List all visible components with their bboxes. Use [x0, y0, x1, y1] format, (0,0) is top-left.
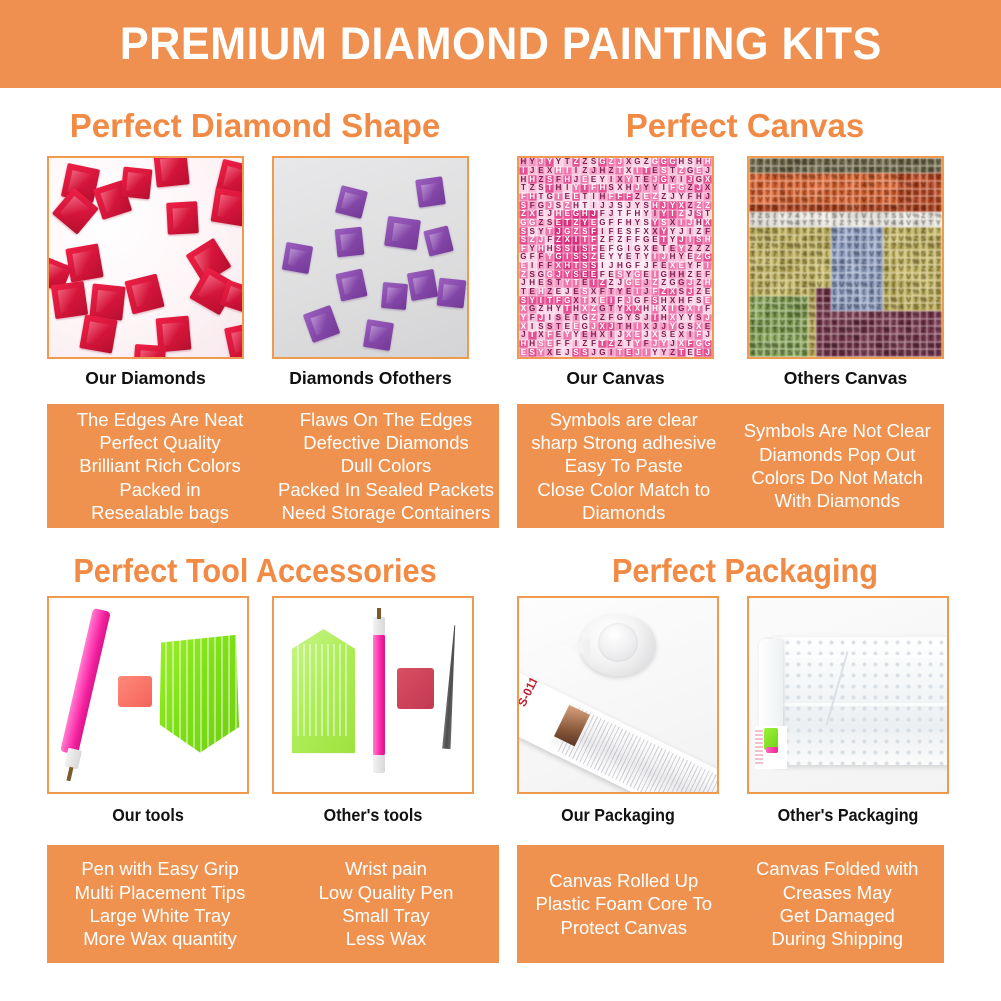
canvas-symbol-cell: % [890, 349, 897, 357]
canvas-symbol-cell: T [563, 219, 572, 228]
canvas-symbol-cell: G [545, 193, 554, 202]
canvas-symbol-cell: J [589, 348, 598, 357]
canvas-symbol-cell: J [703, 348, 712, 357]
canvas-symbol-cell: I [572, 167, 581, 176]
canvas-symbol-cell: J [589, 167, 598, 176]
canvas-symbol-cell: G [686, 167, 695, 176]
panel-line: Protect Canvas [561, 916, 687, 939]
canvas-symbol-cell: J [703, 167, 712, 176]
canvas-symbol-cell: E [642, 193, 651, 202]
panel-line: Brilliant Rich Colors [79, 454, 240, 477]
canvas-symbol-cell: H [528, 193, 537, 202]
panel-diamond-shape: The Edges Are Neat Perfect Quality Brill… [47, 404, 499, 528]
pink-pen [60, 608, 111, 756]
canvas-symbol-cell: X [668, 219, 677, 228]
panel-canvas: Symbols are clear sharp Strong adhesive … [517, 404, 944, 528]
canvas-symbol-cell: T [580, 193, 589, 202]
canvas-symbol-cell: S [801, 349, 808, 357]
canvas-symbol-cell: J [668, 193, 677, 202]
panel-line: Flaws On The Edges [300, 408, 472, 431]
canvas-symbol-cell: 4 [920, 349, 927, 357]
canvas-symbol-cell: F [607, 193, 616, 202]
panel-col-ours-tools: Pen with Easy Grip Multi Placement Tips … [47, 845, 273, 963]
section-heading-packaging: Perfect Packaging [536, 552, 955, 590]
pen-needle [377, 608, 381, 620]
canvas-symbol-cell: I [554, 193, 563, 202]
panel-line: Perfect Quality [99, 431, 220, 454]
image-card-others-tools [272, 596, 474, 794]
panel-line: Defective Diamonds [303, 431, 469, 454]
caption-our-tools: Our tools [55, 805, 241, 826]
panel-line: Packed In Sealed Packets [278, 478, 494, 501]
canvas-symbol-cell: V [756, 349, 763, 357]
canvas-symbol-cell: I [677, 219, 686, 228]
pink-symbol-grid-canvas-photo: HYJYYTZZSGZJXGZGGGHSHHIJEXHIIZJHZTXITEST… [519, 158, 712, 357]
canvas-symbol-cell: Z [633, 193, 642, 202]
canvas-symbol-cell: F [615, 193, 624, 202]
canvas-symbol-cell: G [519, 219, 528, 228]
canvas-symbol-cell: Y [846, 349, 853, 357]
panel-line: Easy To Paste [565, 454, 683, 477]
canvas-symbol-cell: Z [580, 167, 589, 176]
canvas-symbol-cell: Z [607, 167, 616, 176]
canvas-symbol-cell: V [823, 349, 830, 357]
canvas-symbol-cell: Z [875, 349, 882, 357]
canvas-symbol-cell: S [764, 349, 771, 357]
caption-others-diamonds: Diamonds Ofothers [272, 368, 469, 389]
section-heading-diamond-shape: Perfect Diamond Shape [30, 107, 480, 145]
canvas-symbol-cell: S [853, 349, 860, 357]
caption-our-canvas: Our Canvas [517, 368, 714, 389]
canvas-symbol-cell: F [624, 193, 633, 202]
panel-line: Symbols are clear [550, 408, 698, 431]
canvas-symbol-cell: F [607, 219, 616, 228]
canvas-symbol-cell: S [545, 219, 554, 228]
canvas-symbol-cell: T [677, 348, 686, 357]
panel-line: Need Storage Containers [282, 501, 491, 524]
canvas-symbol-cell: V [860, 349, 867, 357]
panel-col-others-canvas: Symbols Are Not Clear Diamonds Pop Out C… [731, 404, 945, 528]
canvas-symbol-cell: X [545, 167, 554, 176]
canvas-symbol-cell: Y [633, 219, 642, 228]
infographic-page: PREMIUM DIAMOND PAINTING KITS Perfect Di… [0, 0, 1001, 1001]
pink-pen [373, 633, 385, 757]
canvas-symbol-cell: Z [572, 219, 581, 228]
canvas-symbol-cell: I [607, 348, 616, 357]
panel-line: Canvas Rolled Up [549, 869, 698, 892]
tube-label-text: S-011 [519, 674, 541, 708]
canvas-symbol-cell: X [703, 219, 712, 228]
panel-line: More Wax quantity [83, 927, 237, 950]
canvas-symbol-cell: G [598, 219, 607, 228]
canvas-symbol-cell: H [554, 167, 563, 176]
pen-needle [66, 766, 73, 780]
canvas-symbol-cell: T [779, 349, 786, 357]
panel-line: Low Quality Pen [319, 881, 454, 904]
canvas-symbol-cell: J [563, 348, 572, 357]
panel-col-ours-canvas: Symbols are clear sharp Strong adhesive … [517, 404, 731, 528]
canvas-symbol-cell: E [554, 219, 563, 228]
panel-line: Diamonds Pop Out [759, 443, 915, 466]
canvas-symbol-cell: Y [659, 348, 668, 357]
canvas-symbol-cell: I [519, 167, 528, 176]
section-heading-tools: Perfect Tool Accessories [46, 552, 465, 590]
canvas-symbol-cell: Y [580, 219, 589, 228]
canvas-symbol-cell: E [624, 348, 633, 357]
panel-line: Small Tray [342, 904, 429, 927]
canvas-symbol-cell: J [528, 167, 537, 176]
tube-cap-tab [559, 639, 591, 656]
canvas-symbol-cell: H [598, 193, 607, 202]
panel-line: Multi Placement Tips [75, 881, 246, 904]
canvas-symbol-cell: Z [816, 349, 823, 357]
canvas-symbol-cell: % [927, 349, 934, 357]
canvas-symbol-cell: T [668, 167, 677, 176]
canvas-symbol-cell: S [905, 349, 912, 357]
wax-square [397, 668, 435, 709]
panel-line: Diamonds [582, 501, 665, 524]
red-square-drills-photo [49, 158, 242, 357]
panel-line: Pen with Easy Grip [81, 857, 238, 880]
canvas-symbol-cell: E [651, 167, 660, 176]
caption-our-diamonds: Our Diamonds [47, 368, 244, 389]
canvas-symbol-cell: F [686, 193, 695, 202]
canvas-symbol-cell: H [694, 193, 703, 202]
canvas-symbol-cell: V [794, 349, 801, 357]
panel-line: The Edges Are Neat [77, 408, 244, 431]
panel-line: Plastic Foam Core To [536, 892, 713, 915]
canvas-symbol-cell: I [563, 167, 572, 176]
canvas-symbol-cell: E [519, 348, 528, 357]
canvas-symbol-cell: 4 [749, 349, 756, 357]
canvas-symbol-cell: G [598, 348, 607, 357]
caption-others-tools: Other's tools [280, 805, 466, 826]
canvas-symbol-cell: I [589, 193, 598, 202]
purple-square-drills-photo [274, 158, 467, 357]
canvas-symbol-cell: J [686, 219, 695, 228]
canvas-symbol-cell: Y [651, 348, 660, 357]
canvas-symbol-cell: 7 [935, 349, 942, 357]
canvas-symbol-cell: Y [912, 349, 919, 357]
canvas-symbol-cell: H [624, 219, 633, 228]
blurry-multicolor-canvas-photo: 7?4T(S%ZZ?ZVZYZVZY(VYZ4V%V7ZYS%Y74((4%VY… [749, 158, 942, 357]
panel-line: Large White Tray [90, 904, 231, 927]
panel-col-others-packaging: Canvas Folded with Creases May Get Damag… [731, 845, 945, 963]
panel-col-others-tools: Wrist pain Low Quality Pen Small Tray Le… [273, 845, 499, 963]
canvas-symbol-cell: F [519, 193, 528, 202]
canvas-symbol-cell: 7 [771, 349, 778, 357]
canvas-symbol-cell: S [528, 348, 537, 357]
canvas-symbol-cell: E [572, 193, 581, 202]
canvas-symbol-cell: E [554, 348, 563, 357]
image-card-our-tools [47, 596, 249, 794]
canvas-symbol-cell: Y [651, 219, 660, 228]
rolled-tube-photo: S-011 [519, 598, 717, 792]
image-card-our-packaging: S-011 [517, 596, 719, 794]
page-header: PREMIUM DIAMOND PAINTING KITS [0, 0, 1001, 88]
canvas-symbol-cell: Z [897, 349, 904, 357]
panel-line: Creases May [783, 881, 892, 904]
panel-col-ours-packaging: Canvas Rolled Up Plastic Foam Core To Pr… [517, 845, 731, 963]
canvas-symbol-cell: T [537, 193, 546, 202]
tweezers [442, 625, 460, 749]
canvas-symbol-cell: Z [651, 193, 660, 202]
caption-our-packaging: Our Packaging [525, 805, 711, 826]
canvas-symbol-cell: T [615, 167, 624, 176]
mailer-body [771, 637, 947, 765]
mailer-contents-peek [755, 726, 787, 769]
canvas-symbol-cell: E [686, 348, 695, 357]
canvas-symbol-cell: Z [677, 167, 686, 176]
panel-tools: Pen with Easy Grip Multi Placement Tips … [47, 845, 499, 963]
panel-col-ours-diamonds: The Edges Are Neat Perfect Quality Brill… [47, 404, 273, 528]
panel-line: Wrist pain [345, 857, 427, 880]
canvas-symbol-cell: H [598, 167, 607, 176]
canvas-symbol-cell: J [633, 348, 642, 357]
panel-line: During Shipping [771, 927, 903, 950]
canvas-symbol-cell: X [624, 167, 633, 176]
canvas-symbol-cell: E [563, 193, 572, 202]
canvas-symbol-cell: J [703, 193, 712, 202]
panel-line: sharp Strong adhesive [531, 431, 716, 454]
canvas-symbol-cell: I [642, 348, 651, 357]
panel-line: Resealable bags [91, 501, 229, 524]
canvas-symbol-cell: E [589, 219, 598, 228]
image-card-others-canvas: 7?4T(S%ZZ?ZVZYZVZY(VYZ4V%V7ZYS%Y74((4%VY… [747, 156, 944, 359]
image-card-others-diamonds [272, 156, 469, 359]
canvas-symbol-cell: S [868, 349, 875, 357]
canvas-symbol-cell: T [642, 167, 651, 176]
canvas-symbol-cell: I [633, 167, 642, 176]
panel-line: Canvas Folded with [756, 857, 918, 880]
caption-others-packaging: Other's Packaging [755, 805, 941, 826]
canvas-symbol-cell: S [572, 348, 581, 357]
image-card-others-packaging [747, 596, 949, 794]
panel-col-others-diamonds: Flaws On The Edges Defective Diamonds Du… [273, 404, 499, 528]
canvas-symbol-cell: F [615, 219, 624, 228]
canvas-symbol-cell: E [694, 167, 703, 176]
canvas-symbol-cell: S [580, 348, 589, 357]
canvas-symbol-cell: S [786, 349, 793, 357]
wax-square [118, 676, 152, 707]
image-card-our-diamonds [47, 156, 244, 359]
pen-end-cap [373, 755, 385, 772]
panel-line: Dull Colors [341, 454, 431, 477]
panel-line: Close Color Match to [537, 478, 710, 501]
panel-packaging: Canvas Rolled Up Plastic Foam Core To Pr… [517, 845, 944, 963]
canvas-symbol-cell: Z [659, 193, 668, 202]
canvas-symbol-cell: 7 [808, 349, 815, 357]
section-heading-canvas: Perfect Canvas [520, 107, 970, 145]
panel-line: Colors Do Not Match [751, 466, 923, 489]
tube-cap-knob [598, 623, 638, 662]
canvas-symbol-cell: Z [831, 349, 838, 357]
others-tools-photo [274, 598, 472, 792]
canvas-symbol-cell: Z [537, 219, 546, 228]
canvas-symbol-cell: Y [677, 193, 686, 202]
canvas-symbol-cell: H [694, 219, 703, 228]
panel-line: Less Wax [346, 927, 427, 950]
canvas-symbol-cell: G [528, 219, 537, 228]
our-tools-photo [49, 598, 247, 792]
canvas-symbol-cell: X [545, 348, 554, 357]
tube-body: S-011 [519, 671, 717, 792]
small-green-tray [292, 629, 355, 753]
canvas-symbol-cell: Y [537, 348, 546, 357]
bubble-mailer-photo [749, 598, 947, 792]
canvas-symbol-cell: S [659, 167, 668, 176]
green-tray [158, 635, 239, 763]
canvas-symbol-cell: 4 [883, 349, 890, 357]
panel-line: Packed in [119, 478, 200, 501]
canvas-symbol-cell: S [659, 219, 668, 228]
panel-line: Get Damaged [780, 904, 895, 927]
canvas-symbol-cell: E [694, 348, 703, 357]
page-title: PREMIUM DIAMOND PAINTING KITS [120, 18, 882, 70]
canvas-symbol-cell: E [537, 167, 546, 176]
image-card-our-canvas: HYJYYTZZSGZJXGZGGGHSHHIJEXHIIZJHZTXITEST… [517, 156, 714, 359]
panel-line: Symbols Are Not Clear [744, 419, 931, 442]
panel-line: With Diamonds [775, 489, 900, 512]
canvas-symbol-cell: T [615, 348, 624, 357]
caption-others-canvas: Others Canvas [747, 368, 944, 389]
pen-tip [373, 617, 385, 634]
canvas-symbol-cell: S [642, 219, 651, 228]
canvas-symbol-cell: Z [668, 348, 677, 357]
canvas-symbol-cell: S [838, 349, 845, 357]
